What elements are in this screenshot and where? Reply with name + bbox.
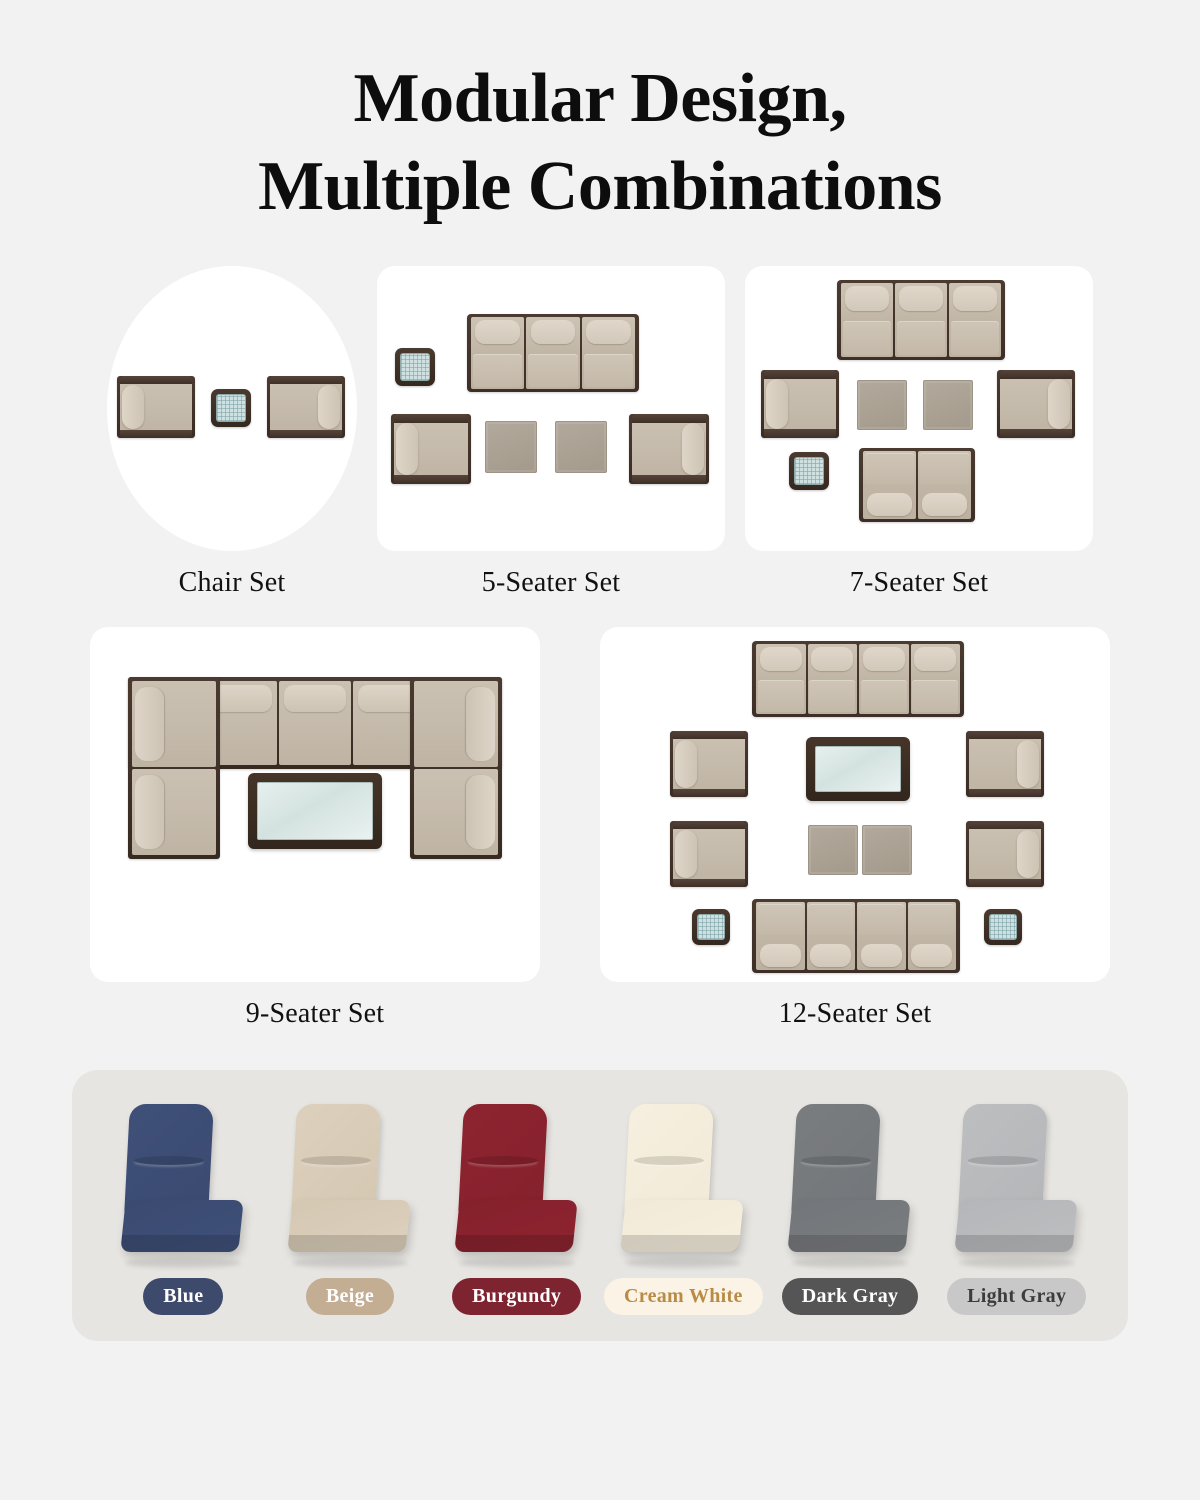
ottoman [555,421,607,473]
color-pill-label[interactable]: Dark Gray [782,1278,919,1315]
chair-left [670,731,748,797]
color-pill-label[interactable]: Beige [306,1278,394,1315]
chair-left [117,376,195,438]
chair-left [391,414,471,484]
ottoman [808,825,858,875]
chair-right [997,370,1075,438]
cushion-shadow [792,1258,908,1268]
side-table [789,452,829,490]
chair-set-diagram [107,266,357,551]
color-option-cream-white[interactable]: Cream White [600,1104,767,1315]
sectional-left-arm [128,677,220,859]
twelve-seater-diagram [600,627,1110,982]
color-pill-label[interactable]: Light Gray [947,1278,1086,1315]
sofa-3-seat [837,280,1005,360]
cushion-seat [121,1200,244,1252]
color-option-dark-gray[interactable]: Dark Gray [767,1104,934,1315]
cushion-preview [953,1104,1081,1264]
seven-seater-diagram [745,266,1093,551]
cushion-crease [634,1156,705,1165]
color-option-burgundy[interactable]: Burgundy [433,1104,600,1315]
side-table [395,348,435,386]
cushion-preview [453,1104,581,1264]
page-title-line1: Modular Design, [0,64,1200,134]
set-configurations: Chair Set 5-Seater Set [0,266,1200,1030]
set-card-chair-set[interactable]: Chair Set [107,266,357,599]
cushion-seat-edge [121,1235,241,1252]
cushion-seat [454,1200,577,1252]
cushion-crease [300,1156,371,1165]
side-table [211,389,251,427]
color-pill-label[interactable]: Burgundy [452,1278,581,1315]
color-pill-label[interactable]: Blue [143,1278,223,1315]
cushion-seat-edge [954,1235,1074,1252]
side-table [692,909,730,945]
chair-left [761,370,839,438]
cushion-seat-edge [621,1235,741,1252]
five-seater-diagram [377,266,725,551]
page-title: Modular Design, Multiple Combinations [0,0,1200,222]
ottoman [485,421,537,473]
sets-row-bottom: 9-Seater Set [60,627,1140,1030]
chair-right [966,821,1044,887]
color-pill-label[interactable]: Cream White [604,1278,763,1315]
cushion-shadow [625,1258,741,1268]
sets-row-top: Chair Set 5-Seater Set [60,266,1140,599]
set-label-seven-seater-set: 7-Seater Set [850,567,988,599]
chair-left [670,821,748,887]
set-card-seven-seater-set[interactable]: 7-Seater Set [745,266,1093,599]
cushion-shadow [959,1258,1075,1268]
glass-coffee-table [806,737,910,801]
sectional-right-arm [410,677,502,859]
cushion-preview [786,1104,914,1264]
chair-right [629,414,709,484]
cushion-preview [619,1104,747,1264]
cushion-preview [119,1104,247,1264]
color-options-row: BlueBeigeBurgundyCream WhiteDark GrayLig… [100,1104,1100,1315]
cushion-seat-edge [787,1235,907,1252]
cushion-seat [787,1200,910,1252]
sofa-4-seat-bottom [752,899,960,973]
cushion-shadow [459,1258,575,1268]
side-table [984,909,1022,945]
cushion-preview [286,1104,414,1264]
color-option-blue[interactable]: Blue [100,1104,267,1315]
set-label-chair-set: Chair Set [179,567,286,599]
cushion-seat [621,1200,744,1252]
loveseat-2-seat [859,448,975,522]
ottoman [923,380,973,430]
chair-right [267,376,345,438]
set-card-nine-seater-set[interactable]: 9-Seater Set [90,627,540,1030]
set-label-twelve-seater-set: 12-Seater Set [779,998,932,1030]
cushion-shadow [292,1258,408,1268]
set-label-nine-seater-set: 9-Seater Set [246,998,384,1030]
set-card-twelve-seater-set[interactable]: 12-Seater Set [600,627,1110,1030]
glass-coffee-table [248,773,382,849]
ottoman [862,825,912,875]
cushion-crease [800,1156,871,1165]
color-option-light-gray[interactable]: Light Gray [933,1104,1100,1315]
chair-right [966,731,1044,797]
cushion-seat [954,1200,1077,1252]
set-card-five-seater-set[interactable]: 5-Seater Set [377,266,725,599]
ottoman [857,380,907,430]
cushion-seat-edge [287,1235,407,1252]
color-option-beige[interactable]: Beige [267,1104,434,1315]
set-label-five-seater-set: 5-Seater Set [482,567,620,599]
cushion-crease [134,1156,205,1165]
cushion-crease [967,1156,1038,1165]
sofa-4-seat-top [752,641,964,717]
page-title-line2: Multiple Combinations [0,152,1200,222]
cushion-seat-edge [454,1235,574,1252]
nine-seater-diagram [90,627,540,982]
sofa-3-seat [467,314,639,392]
cushion-shadow [125,1258,241,1268]
cushion-crease [467,1156,538,1165]
cushion-seat [287,1200,410,1252]
color-options-panel: BlueBeigeBurgundyCream WhiteDark GrayLig… [72,1070,1128,1341]
